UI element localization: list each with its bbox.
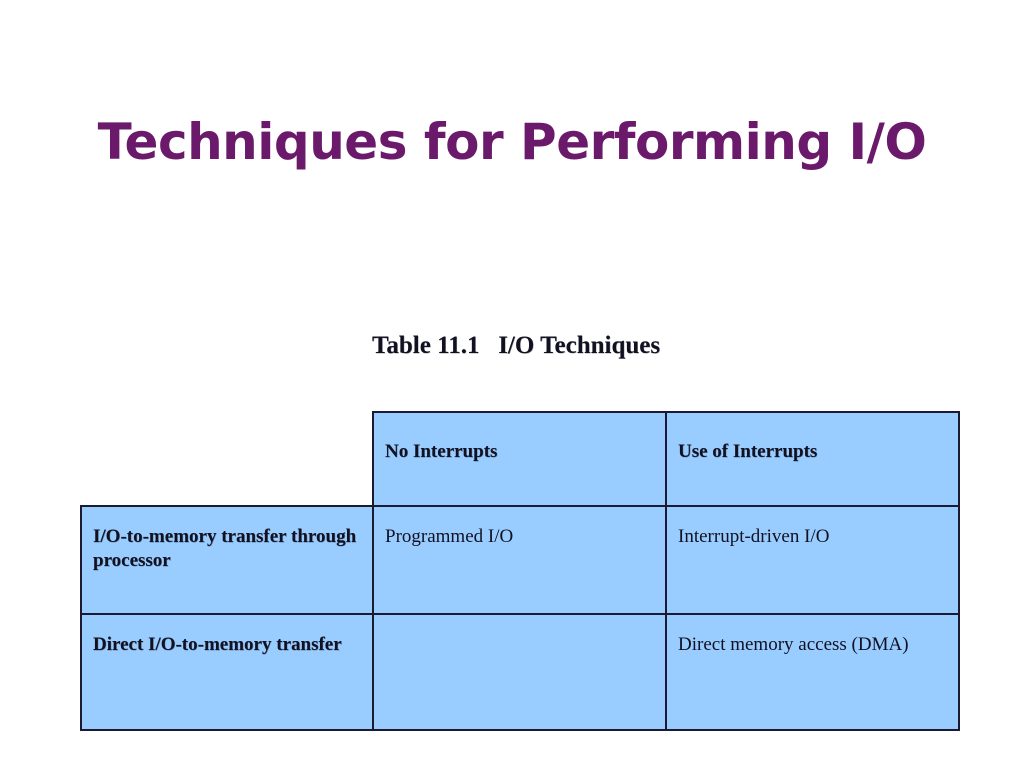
row-label-direct-io-to-memory-transfer: Direct I/O-to-memory transfer (81, 614, 373, 730)
column-header-no-interrupts: No Interrupts (373, 412, 666, 506)
page-title: Techniques for Performing I/O (0, 112, 1024, 172)
table-header-row: No Interrupts Use of Interrupts (81, 412, 959, 506)
cell-interrupt-driven-io: Interrupt-driven I/O (666, 506, 959, 614)
table-row: Direct I/O-to-memory transfer Direct mem… (81, 614, 959, 730)
column-header-use-of-interrupts: Use of Interrupts (666, 412, 959, 506)
cell-direct-io-no-interrupts-empty (373, 614, 666, 730)
io-techniques-table: No Interrupts Use of Interrupts I/O-to-m… (80, 411, 960, 731)
slide-canvas: Techniques for Performing I/O Table 11.1… (0, 0, 1024, 768)
table-caption: Table 11.1 I/O Techniques (372, 331, 692, 361)
cell-programmed-io: Programmed I/O (373, 506, 666, 614)
table-row: I/O-to-memory transfer through processor… (81, 506, 959, 614)
cell-direct-memory-access-dma: Direct memory access (DMA) (666, 614, 959, 730)
table-corner-cell (81, 412, 373, 506)
row-label-io-to-memory-through-processor: I/O-to-memory transfer through processor (81, 506, 373, 614)
